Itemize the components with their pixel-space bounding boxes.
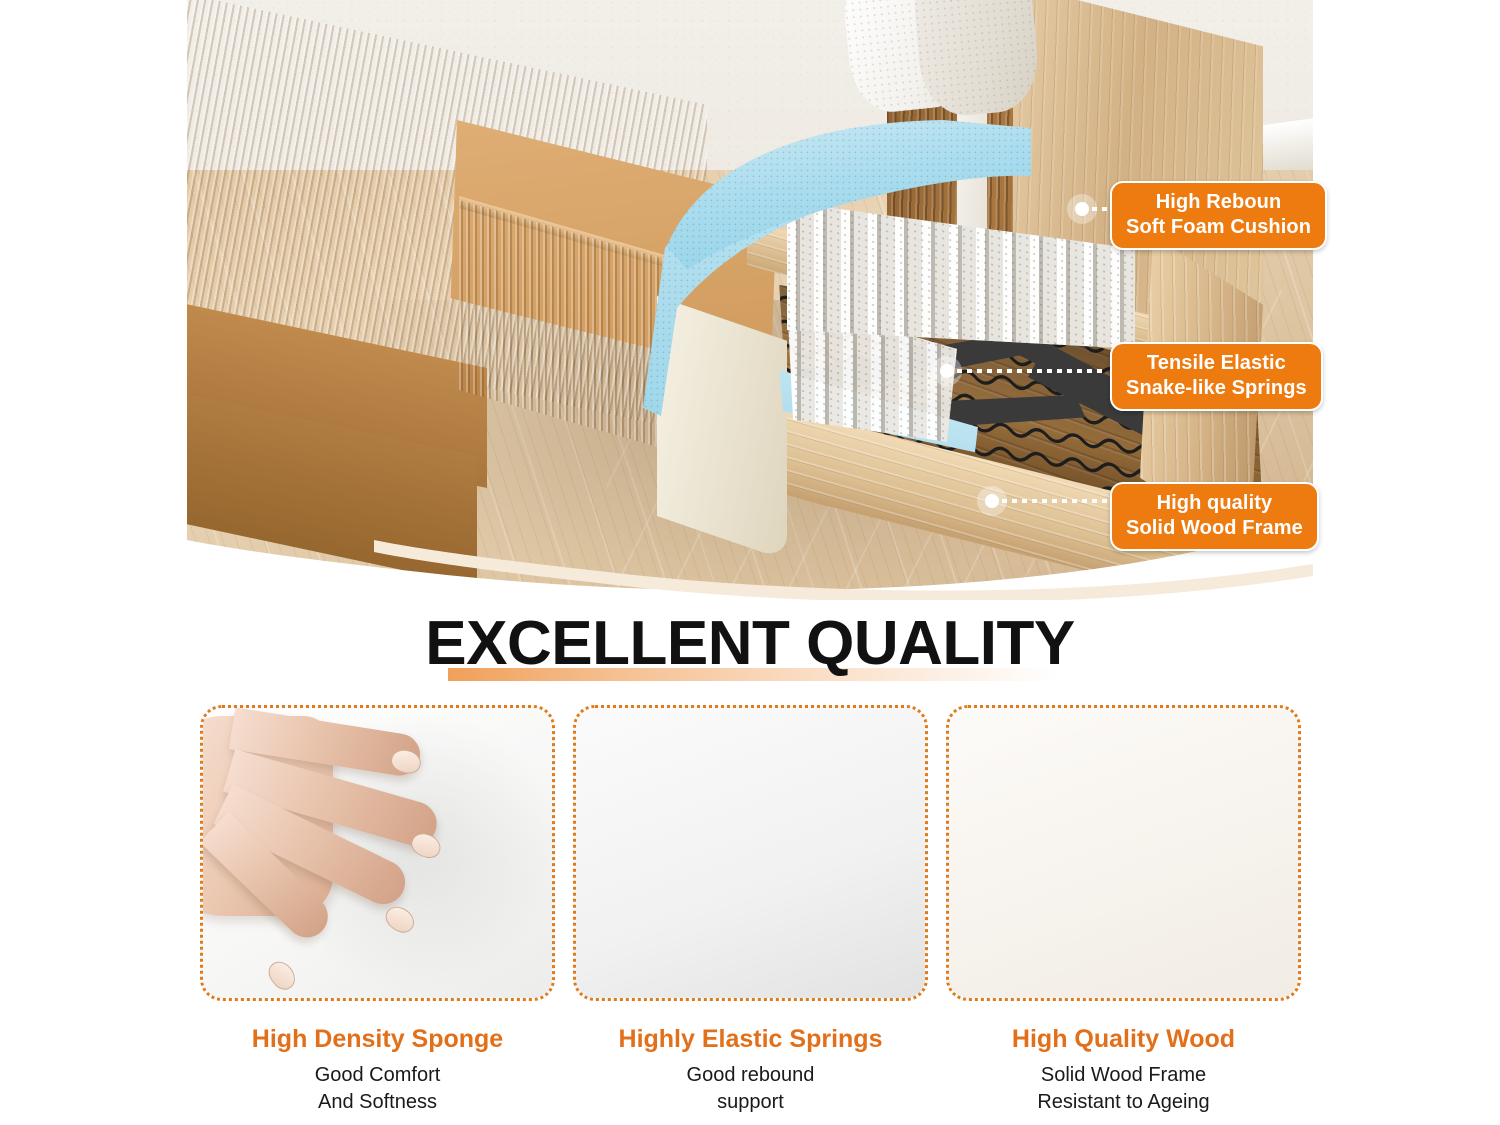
card-subtitle: Good rebound support xyxy=(573,1062,928,1116)
callout-tag-frame[interactable]: High quality Solid Wood Frame xyxy=(1110,482,1319,551)
callout-line-springs xyxy=(957,369,1107,373)
feature-card-springs: Highly Elastic Springs Good rebound supp… xyxy=(573,705,928,1125)
card-title: High Quality Wood xyxy=(946,1025,1301,1054)
springs-backdrop xyxy=(576,708,925,998)
card-title: High Density Sponge xyxy=(200,1025,555,1054)
callout-tag-springs[interactable]: Tensile Elastic Snake-like Springs xyxy=(1110,342,1323,411)
page-title: EXCELLENT QUALITY xyxy=(0,608,1500,679)
callout-line-frame xyxy=(1002,499,1110,503)
serpentine-springs-image xyxy=(573,705,928,1001)
product-infographic-page: High Reboun Soft Foam Cushion Tensile El… xyxy=(0,0,1500,1125)
feature-card-sponge: High Density Sponge Good Comfort And Sof… xyxy=(200,705,555,1125)
stacked-wood-planks-image xyxy=(946,705,1301,1001)
feature-card-wood: High Quality Wood Solid Wood Frame Resis… xyxy=(946,705,1301,1125)
card-title: Highly Elastic Springs xyxy=(573,1025,928,1054)
fabric-skirt xyxy=(657,296,787,561)
callout-tag-foam[interactable]: High Reboun Soft Foam Cushion xyxy=(1110,181,1327,250)
feature-cards: High Density Sponge Good Comfort And Sof… xyxy=(200,705,1300,1125)
section-heading: EXCELLENT QUALITY xyxy=(0,608,1500,696)
card-subtitle: Solid Wood Frame Resistant to Ageing xyxy=(946,1062,1301,1116)
card-subtitle: Good Comfort And Softness xyxy=(200,1062,555,1116)
hand-pressing-foam-image xyxy=(200,705,555,1001)
wood-backdrop xyxy=(949,708,1298,998)
